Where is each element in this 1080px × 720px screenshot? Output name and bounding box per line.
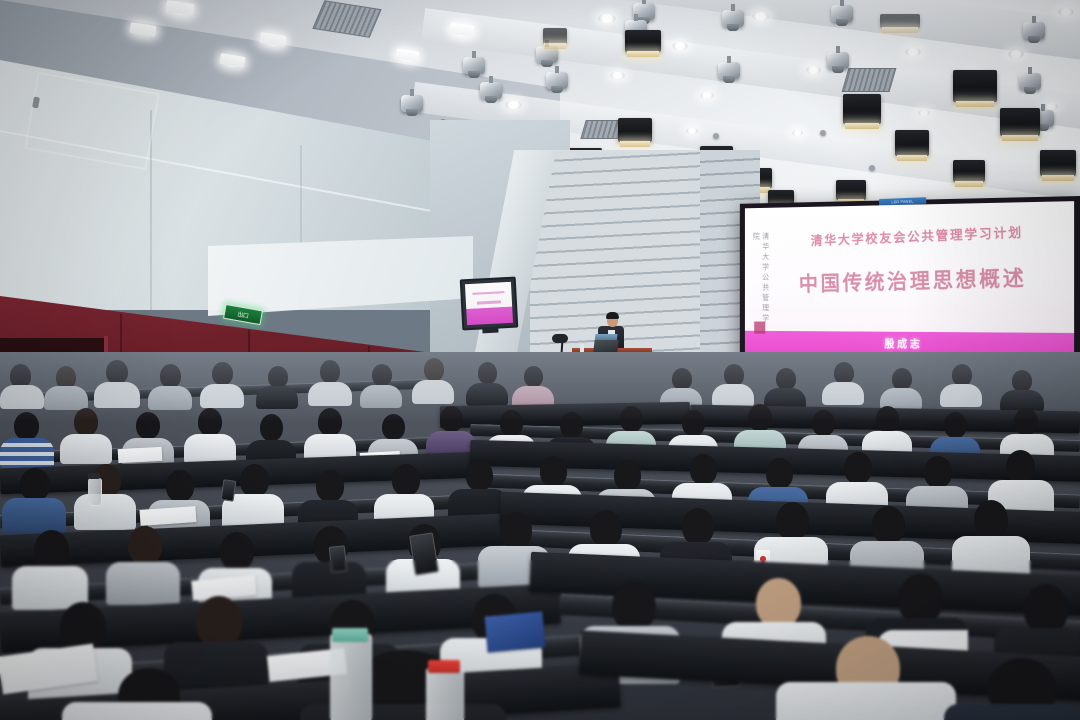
stage-light [953, 70, 997, 102]
spotlight-icon [827, 52, 849, 69]
bottle-cap [332, 628, 368, 642]
audience-shoulders [712, 384, 754, 407]
audience-shoulders [360, 385, 402, 408]
audience-shoulders [256, 386, 298, 409]
confidence-monitor [460, 277, 519, 331]
audience-head [974, 500, 1008, 539]
audience-shoulders [776, 682, 956, 720]
audience-head [212, 362, 233, 385]
audience-shoulders [308, 382, 352, 406]
audience-shoulders [94, 382, 140, 408]
water-bottle [426, 668, 464, 720]
audience-head [872, 506, 905, 544]
downlight-icon [686, 128, 698, 134]
audience-head [196, 596, 242, 648]
panel-light [395, 48, 419, 61]
audience-head [440, 406, 463, 432]
stage-light [843, 94, 881, 124]
audience-head [766, 458, 793, 489]
spotlight-icon [831, 5, 853, 22]
downlight-icon [752, 12, 769, 21]
sprinkler-icon [820, 130, 826, 136]
audience-head [834, 362, 854, 384]
stage-light [543, 28, 567, 44]
microphone-icon [552, 334, 568, 343]
stage-light [953, 160, 985, 182]
downlight-icon [792, 130, 803, 136]
slide-seal-stamp [754, 322, 765, 334]
audience-head [1012, 370, 1032, 392]
audience-head [1024, 584, 1068, 634]
water-bottle [330, 634, 372, 720]
audience-head [776, 502, 809, 540]
audience-seating-area [0, 352, 1080, 720]
downlight-icon [918, 110, 930, 116]
audience-head [74, 408, 98, 436]
audience-shoulders [0, 385, 44, 409]
audience-head [198, 408, 222, 436]
audience-head [672, 368, 692, 390]
audience-head [268, 366, 288, 388]
stage-light [880, 14, 920, 28]
smartphone[interactable] [329, 545, 348, 573]
stage-light [895, 130, 929, 156]
audience-shoulders [74, 494, 136, 530]
audience-head [136, 412, 160, 439]
audience-head [1014, 408, 1038, 435]
audience-shoulders [944, 704, 1080, 720]
audience-head [876, 406, 899, 432]
podium-laptop [593, 340, 618, 352]
audience-shoulders [412, 380, 454, 404]
lecture-hall-photo: 出口 LED PANEL 清华大学公共管理学院 清华大学校友会公共管理学习计划 … [0, 0, 1080, 720]
spotlight-icon [1023, 22, 1045, 39]
audience-shoulders [2, 498, 66, 534]
audience-head [14, 412, 39, 440]
spotlight-icon [718, 62, 740, 79]
audience-head [20, 468, 50, 501]
audience-head [892, 368, 912, 390]
downlight-icon [610, 72, 625, 79]
stage-light [1040, 150, 1076, 176]
downlight-icon [806, 66, 821, 74]
audience-shoulders [466, 383, 508, 406]
audience-shoulders [940, 384, 982, 407]
stage-light [625, 30, 661, 52]
audience-head [372, 364, 392, 386]
audience-head [724, 364, 744, 386]
audience-head [318, 408, 342, 436]
audience-head [590, 510, 622, 547]
audience-head [478, 362, 497, 384]
stage-light [836, 180, 866, 200]
sprinkler-icon [713, 133, 719, 139]
downlight-icon [1044, 103, 1058, 110]
audience-head [500, 410, 523, 436]
audience-head [748, 404, 772, 431]
audience-head [320, 360, 340, 383]
downlight-icon [672, 42, 688, 50]
water-bottle [88, 478, 102, 506]
audience-head [316, 470, 344, 502]
audience-head [844, 452, 872, 484]
audience-head [106, 360, 128, 384]
audience-head [220, 532, 254, 571]
audience-head [612, 582, 656, 631]
audience-head [466, 460, 493, 491]
spotlight-icon [401, 95, 423, 112]
audience-shoulders [822, 382, 864, 405]
stage-light [1000, 108, 1040, 136]
audience-head [898, 574, 943, 624]
monitor-stand [482, 327, 498, 334]
audience-head [682, 410, 705, 436]
confidence-monitor-screen [465, 282, 513, 325]
audience-head [500, 512, 532, 549]
downlight-icon [505, 101, 522, 109]
audience-head [690, 454, 717, 485]
audience-shoulders [148, 386, 192, 410]
downlight-icon [700, 92, 714, 99]
audience-head [524, 366, 543, 387]
audience-head [128, 526, 162, 565]
audience-shoulders [44, 386, 88, 410]
audience-head [240, 464, 269, 497]
audience-head [682, 508, 714, 545]
audience-head [260, 414, 283, 441]
audience-head [952, 364, 972, 386]
audience-head [620, 406, 643, 432]
audience-head [812, 410, 835, 436]
spotlight-icon [480, 82, 502, 99]
spotlight-icon [722, 10, 744, 27]
audience-shoulders [62, 702, 212, 720]
audience-head [34, 530, 69, 570]
audience-head [382, 414, 405, 440]
sprinkler-icon [869, 165, 875, 171]
downlight-icon [1058, 8, 1074, 16]
audience-head [166, 470, 194, 502]
hvac-vent [312, 0, 381, 38]
stage-light [618, 118, 652, 142]
audience-head [944, 412, 967, 438]
spotlight-icon [1019, 73, 1041, 90]
bottle-cap [88, 473, 100, 479]
audience-head [1006, 450, 1035, 483]
booklet [485, 612, 546, 653]
audience-head [540, 456, 567, 487]
audience-head [924, 456, 952, 488]
spotlight-icon [546, 72, 568, 89]
audience-head [392, 464, 420, 496]
audience-head [776, 368, 796, 390]
audience-shoulders [106, 562, 180, 605]
panel-light [165, 0, 195, 16]
audience-shoulders [200, 384, 244, 408]
audience-head [756, 578, 801, 628]
downlight-icon [1008, 50, 1024, 58]
speaker-hair [606, 312, 619, 319]
spotlight-icon [463, 57, 485, 74]
audience-head [614, 460, 641, 491]
downlight-icon [598, 14, 616, 23]
audience-head [160, 364, 181, 388]
notebook [118, 447, 163, 463]
audience-shoulders [60, 434, 112, 464]
audience-head [424, 358, 444, 381]
downlight-icon [905, 48, 921, 56]
audience-head [560, 412, 583, 438]
hvac-vent [842, 68, 897, 92]
audience-shoulders [0, 438, 54, 468]
bottle-cap [428, 660, 460, 673]
